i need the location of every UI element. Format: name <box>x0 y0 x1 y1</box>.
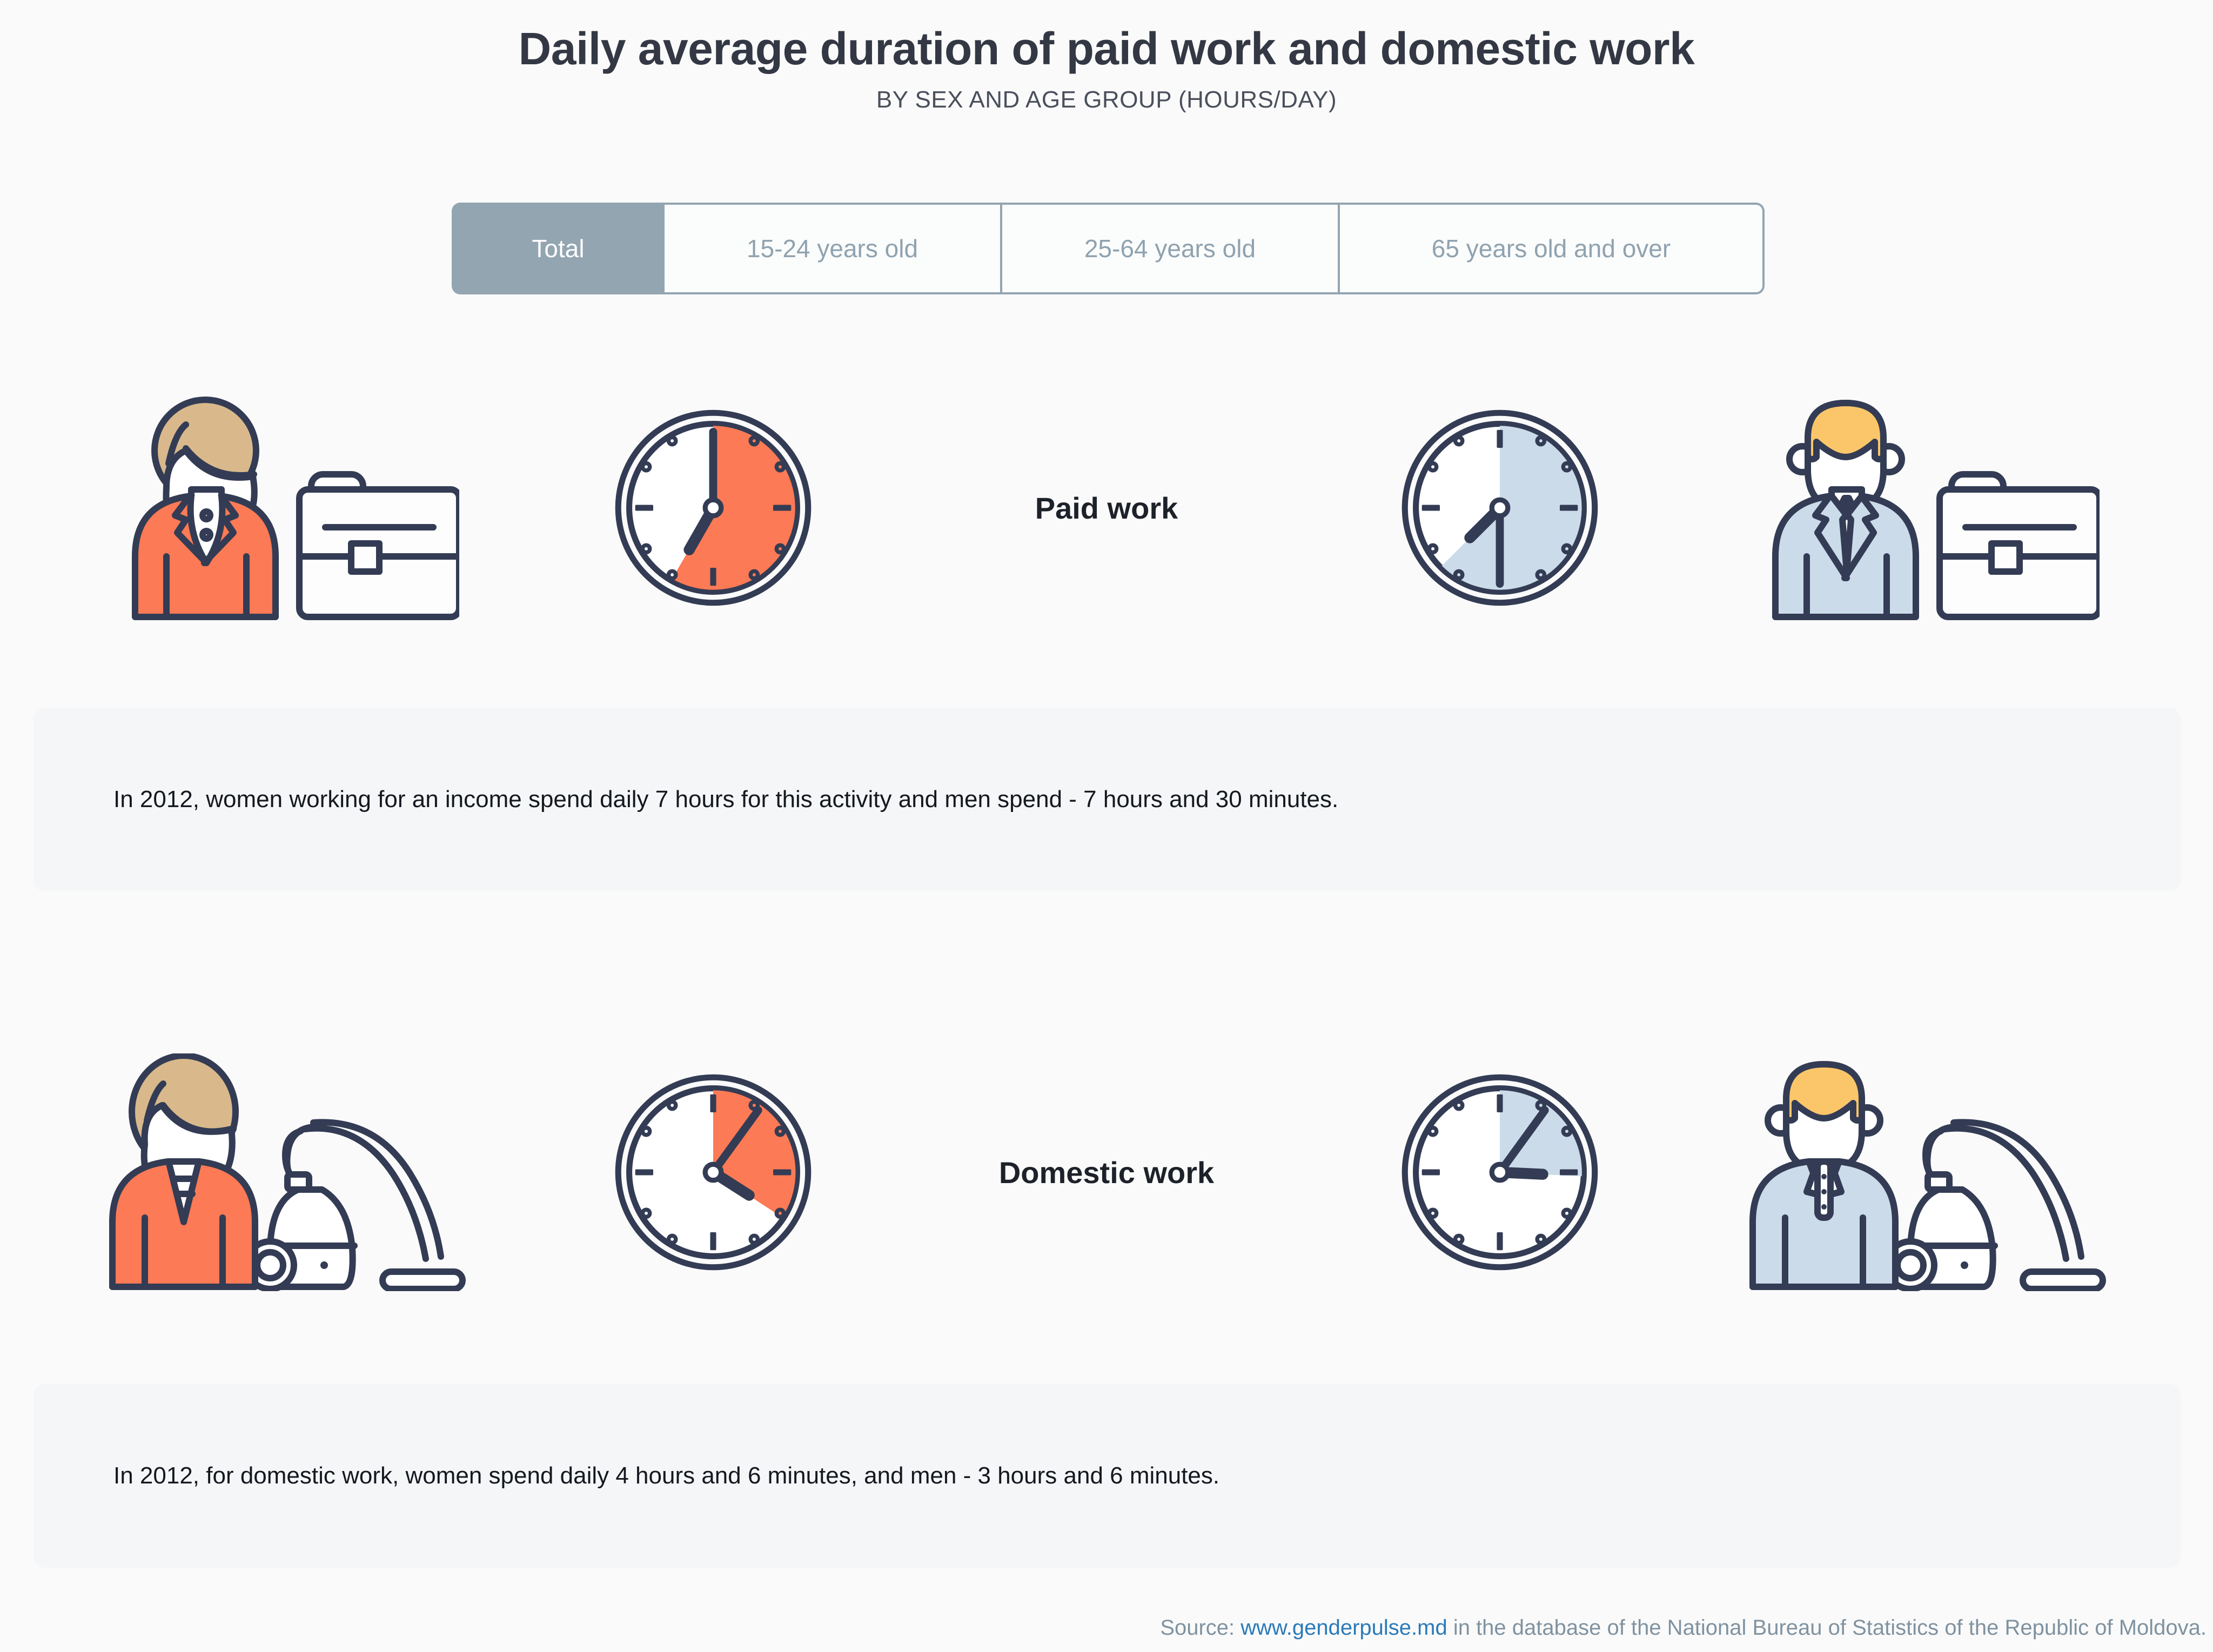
domestic-work-label: Domestic work <box>999 1155 1214 1190</box>
tab-25-64-years-old[interactable]: 25-64 years old <box>1001 203 1339 294</box>
source-suffix: in the database of the National Bureau o… <box>1447 1616 2207 1640</box>
clock-women-domestic-work <box>573 1072 854 1272</box>
paid-work-info-band: In 2012, women working for an income spe… <box>33 708 2181 891</box>
paid-work-note: In 2012, women working for an income spe… <box>113 786 1338 813</box>
businessman-with-briefcase-icon <box>1640 394 2213 621</box>
infographic-page: Daily average duration of paid work and … <box>0 0 2213 1652</box>
page-title: Daily average duration of paid work and … <box>0 24 2213 73</box>
domestic-work-note: In 2012, for domestic work, women spend … <box>113 1462 1219 1489</box>
source-footer: Source: www.genderpulse.md in the databa… <box>1160 1616 2207 1640</box>
paid-work-label: Paid work <box>1035 491 1178 526</box>
source-link[interactable]: www.genderpulse.md <box>1240 1616 1447 1640</box>
man-with-vacuum-cleaner-icon <box>1640 1053 2213 1291</box>
source-prefix: Source: <box>1160 1616 1240 1640</box>
tab-65-and-over[interactable]: 65 years old and over <box>1339 203 1765 294</box>
paid-work-row: Paid work <box>0 367 2213 648</box>
paid-work-label-cell: Paid work <box>854 491 1359 526</box>
tab-15-24-years-old[interactable]: 15-24 years old <box>663 203 1001 294</box>
clock-men-paid-work <box>1359 408 1640 608</box>
clock-men-domestic-work <box>1359 1072 1640 1272</box>
tab-total[interactable]: Total <box>452 203 663 294</box>
clock-women-paid-work <box>573 408 854 608</box>
businesswoman-with-briefcase-icon <box>0 394 573 621</box>
domestic-work-info-band: In 2012, for domestic work, women spend … <box>33 1384 2181 1568</box>
page-subtitle: BY SEX AND AGE GROUP (HOURS/DAY) <box>0 86 2213 113</box>
domestic-work-row: Domestic work <box>0 1032 2213 1313</box>
age-group-tabbar: Total 15-24 years old 25-64 years old 65… <box>452 203 1765 294</box>
woman-with-vacuum-cleaner-icon <box>0 1053 573 1291</box>
domestic-work-label-cell: Domestic work <box>854 1155 1359 1190</box>
page-header: Daily average duration of paid work and … <box>0 0 2213 113</box>
